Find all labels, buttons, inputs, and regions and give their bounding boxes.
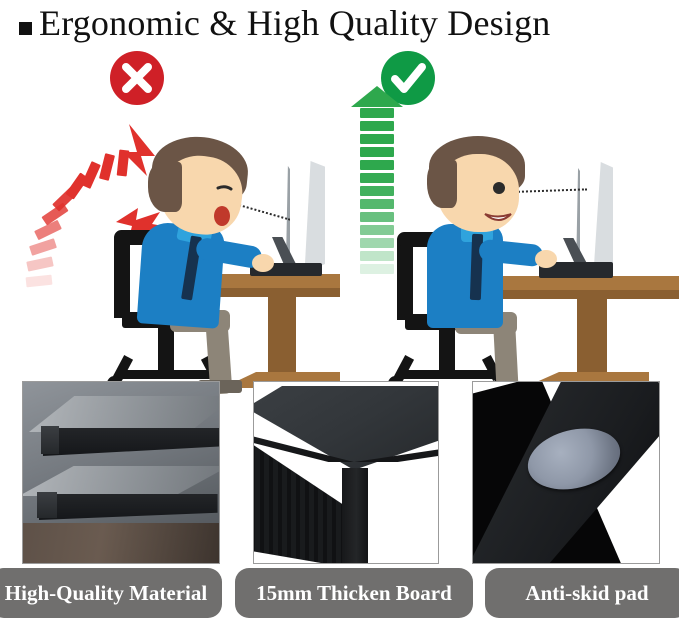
caption-thicken-board: 15mm Thicken Board: [235, 568, 473, 618]
posture-comparison-illustration: [0, 44, 679, 378]
chair-base: [116, 370, 220, 379]
desk-edge: [487, 290, 679, 299]
person-hand: [535, 250, 557, 268]
chair-base: [397, 370, 499, 379]
desk-leg-front: [342, 468, 368, 564]
product-photo-panels: [0, 379, 679, 565]
board-lower: [22, 466, 220, 532]
chair-column: [158, 328, 174, 374]
square-bullet-icon: [19, 22, 32, 35]
board-upper: [29, 396, 220, 462]
thicken-board-photo: [253, 381, 439, 564]
anti-skid-pad-photo: [472, 381, 660, 564]
caption-high-quality-material: High-Quality Material: [0, 568, 222, 618]
desk-top: [487, 276, 679, 290]
page-title: Ergonomic & High Quality Design: [39, 0, 550, 46]
monitor-screen: [287, 161, 325, 273]
bad-posture-scene: [0, 44, 340, 378]
good-posture-scene: [339, 44, 679, 378]
chair-column: [439, 330, 455, 374]
caption-pills: High-Quality Material 15mm Thicken Board…: [0, 568, 679, 624]
desk-leg: [268, 297, 296, 385]
cross-mark-icon: [110, 51, 164, 105]
high-quality-material-photo: [22, 381, 220, 564]
page-header: Ergonomic & High Quality Design: [0, 0, 679, 46]
person-hand: [252, 254, 274, 272]
caption-anti-skid-pad: Anti-skid pad: [485, 568, 679, 618]
